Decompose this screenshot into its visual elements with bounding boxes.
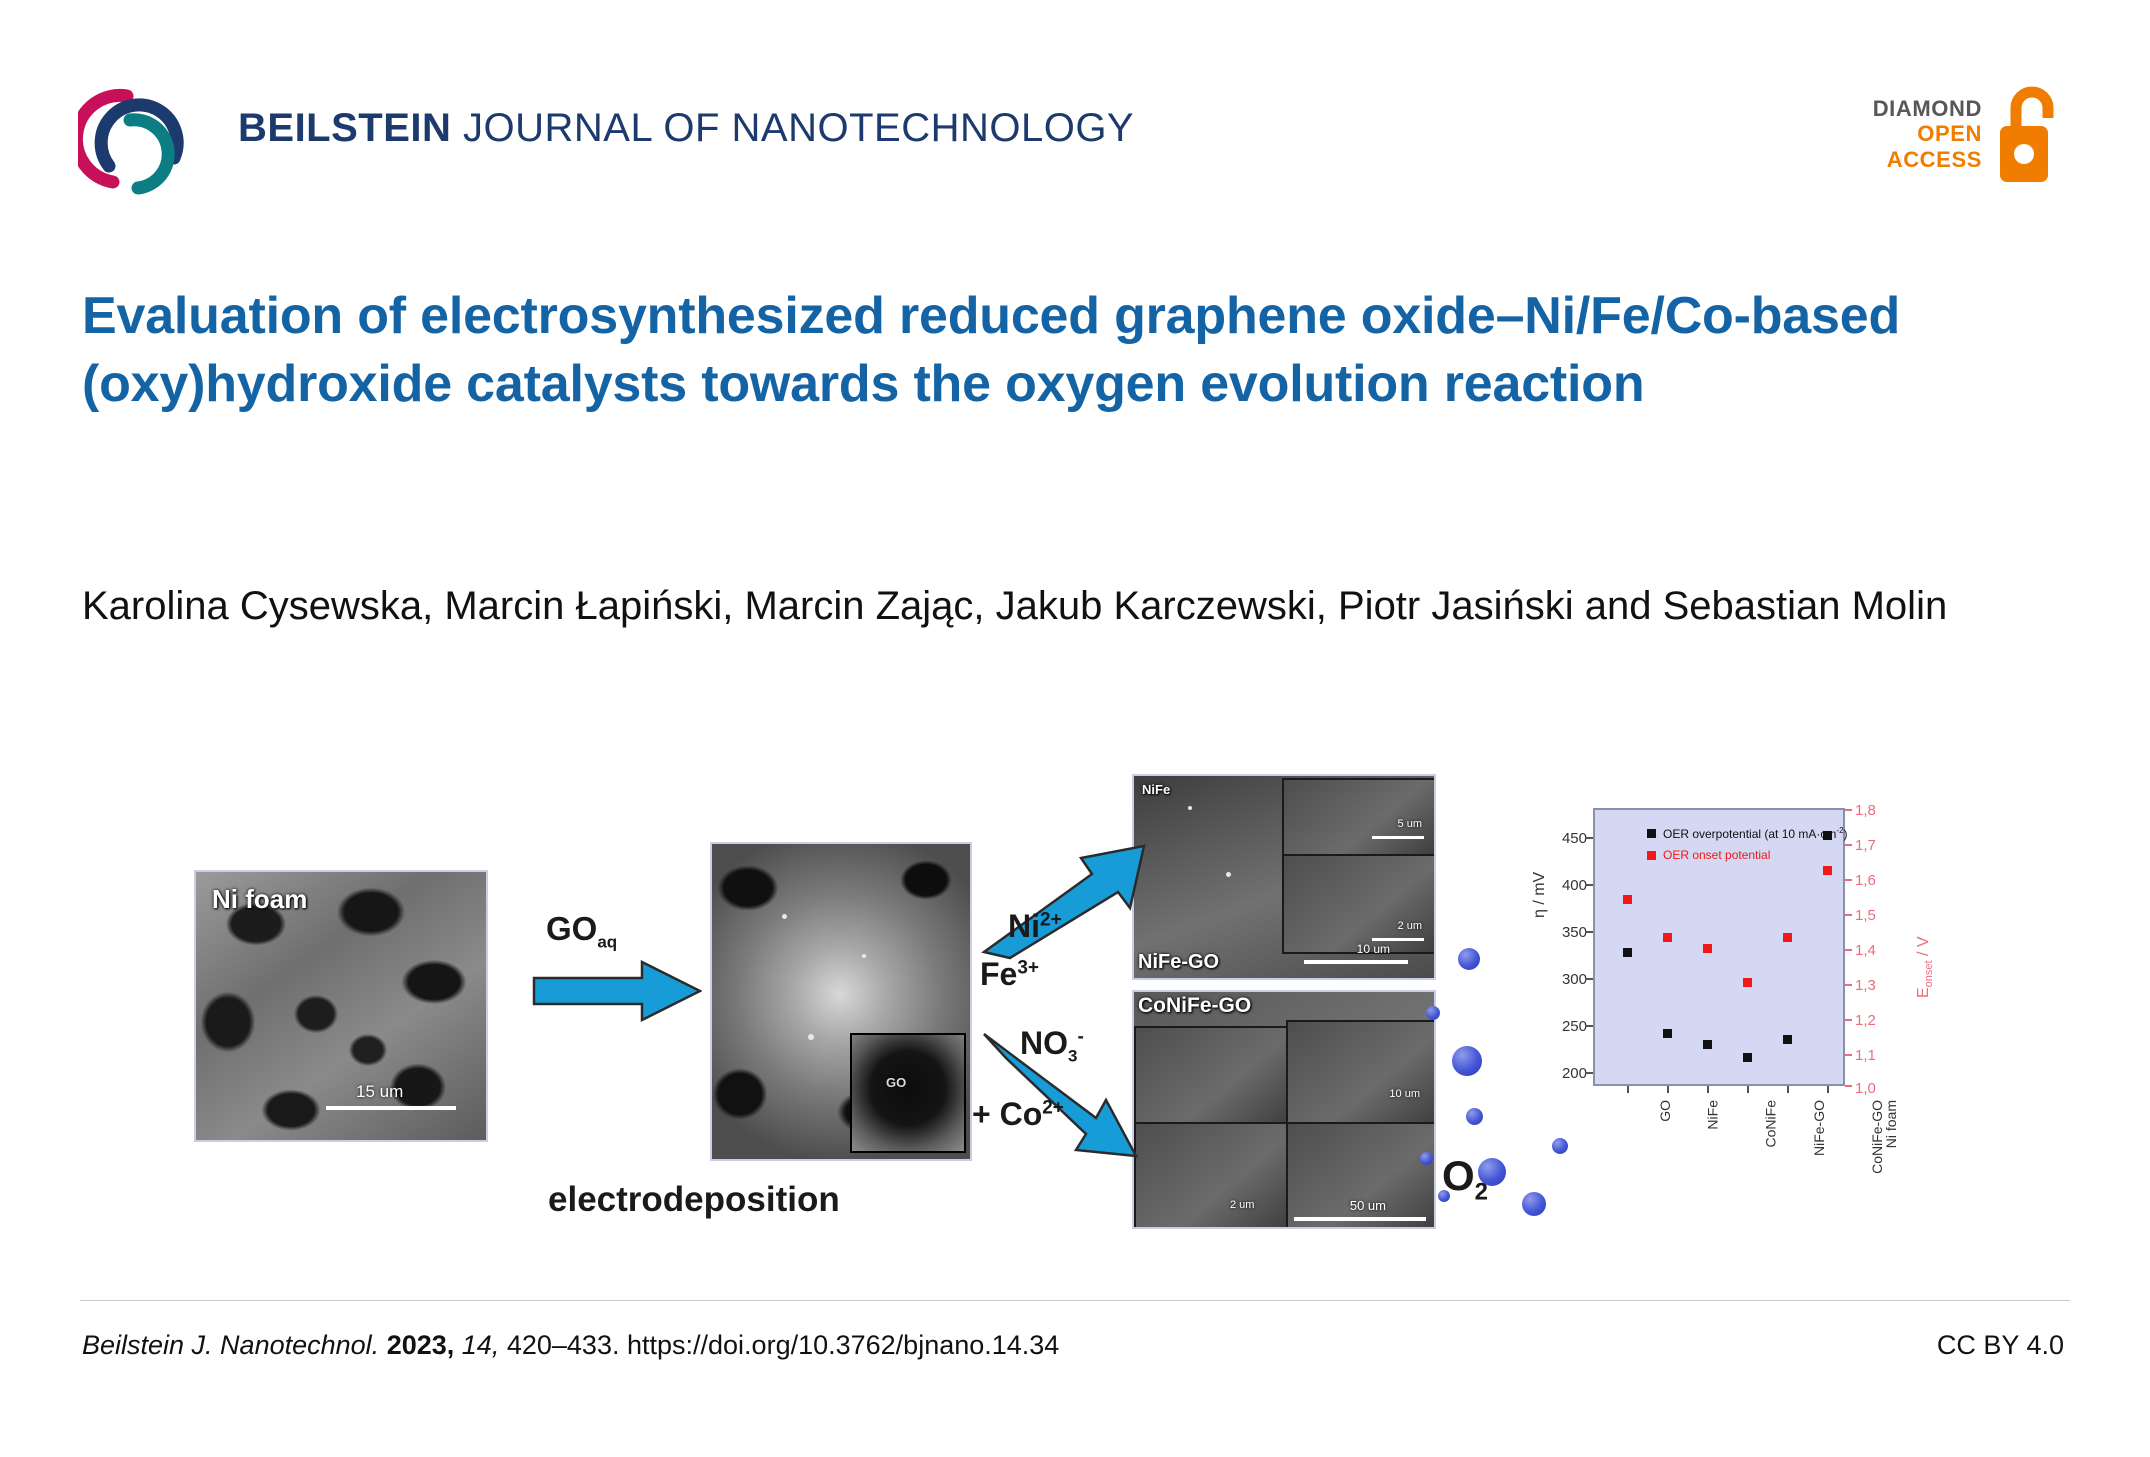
scale-bar-nife-5um [1372, 836, 1424, 839]
journal-title-bold: BEILSTEIN [238, 106, 451, 150]
arrow-electrodeposition [532, 960, 702, 1022]
y2-tickmark [1845, 1019, 1852, 1021]
license-label: CC BY 4.0 [1937, 1330, 2064, 1361]
y2-tick-1.7: 1,7 [1855, 837, 1895, 854]
x-tickmark [1747, 1086, 1749, 1093]
y2-tick-1.6: 1,6 [1855, 872, 1895, 889]
sem-inset-label-go: GO [886, 1075, 906, 1090]
sem-speck [1188, 806, 1192, 810]
x-tick-conife: CoNiFe [1762, 1100, 1778, 1147]
oxygen-bubble [1466, 1108, 1483, 1125]
citation-line: Beilstein J. Nanotechnol. 2023, 14, 420–… [82, 1330, 1059, 1361]
y-tickmark [1585, 931, 1593, 933]
scale-text-ni-foam: 15 um [356, 1082, 403, 1102]
oxygen-bubble [1522, 1192, 1546, 1216]
co-charge: 2+ [1042, 1097, 1064, 1118]
scale-text-conife-10um: 10 um [1389, 1088, 1420, 1100]
oa-open-label: OPEN [1873, 121, 1982, 147]
sem-inset-go: GO [850, 1033, 966, 1153]
y-tickmark [1585, 1025, 1593, 1027]
oer-performance-chart: OER overpotential (at 10 mA·cm-2) OER on… [1515, 788, 1935, 1208]
y2-tickmark [1845, 1054, 1852, 1056]
x-tick-nife-go: NiFe-GO [1811, 1100, 1827, 1156]
sem-image-ni-foam: Ni foam 15 um [194, 870, 488, 1142]
diamond-open-access-badge: DIAMOND OPEN ACCESS [1873, 76, 2062, 192]
data-point-overpotential-nife [1663, 1029, 1672, 1038]
no3-text: NO [1020, 1025, 1068, 1061]
citation-journal: Beilstein J. Nanotechnol. [82, 1330, 379, 1360]
page-header: BEILSTEIN JOURNAL OF NANOTECHNOLOGY DIAM… [0, 0, 2150, 210]
y2-tickmark [1845, 949, 1852, 951]
sem-inset-conife-bl [1134, 1122, 1290, 1229]
sem-speck [808, 1034, 814, 1040]
sem-speck [862, 954, 866, 958]
data-point-onset-nife-go [1743, 978, 1752, 987]
ni-text: Ni [1008, 908, 1040, 944]
scale-text-conife-2um: 2 um [1230, 1199, 1254, 1211]
data-point-overpotential-conife [1703, 1040, 1712, 1049]
arrow-to-nife-go [980, 840, 1148, 960]
legend-swatch-black [1647, 829, 1656, 838]
y2-tickmark [1845, 914, 1852, 916]
y2-tick-1.3: 1,3 [1855, 977, 1895, 994]
graphical-abstract: Ni foam 15 um GOaq GO electrodeposition … [180, 760, 1980, 1260]
no3-subscript: 3 [1068, 1046, 1077, 1065]
footer-divider [80, 1300, 2070, 1301]
label-ion-nickel: Ni2+ [1008, 908, 1062, 945]
y-tick-350: 350 [1539, 924, 1587, 941]
citation-pages: 420–433. [507, 1330, 620, 1360]
x-tick-go: GO [1657, 1100, 1673, 1122]
oxygen-bubble [1426, 1006, 1440, 1020]
label-ion-cobalt: + Co2+ [972, 1096, 1064, 1133]
go-subscript: aq [597, 933, 617, 952]
y2-tickmark [1845, 1085, 1852, 1087]
y2-tickmark [1845, 844, 1852, 846]
y2-tick-1.4: 1,4 [1855, 942, 1895, 959]
scale-bar-conife-50um [1294, 1217, 1426, 1221]
y-axis-title: η / mV [1531, 872, 1549, 918]
x-tick-ni-foam: Ni foam [1883, 1100, 1899, 1148]
fe-text: Fe [980, 956, 1017, 992]
journal-title-light: JOURNAL OF NANOTECHNOLOGY [451, 106, 1134, 150]
x-tickmark [1827, 1086, 1829, 1093]
oxygen-bubble [1458, 948, 1480, 970]
scale-text-nife-5um: 5 um [1398, 818, 1422, 830]
x-tickmark [1627, 1086, 1629, 1093]
label-oxygen: O2 [1442, 1152, 1488, 1206]
y2-tick-1.0: 1,0 [1855, 1080, 1895, 1097]
sem-label-conife-go: CoNiFe-GO [1138, 994, 1251, 1018]
o2-text: O [1442, 1152, 1475, 1199]
co-text: + Co [972, 1096, 1042, 1132]
legend-label-overpotential: OER overpotential (at 10 mA·cm-2) [1663, 826, 1848, 841]
oxygen-bubble [1452, 1046, 1482, 1076]
y-tick-200: 200 [1539, 1065, 1587, 1082]
y2-tick-1.2: 1,2 [1855, 1012, 1895, 1029]
sem-image-conife-go: CoNiFe-GO 10 um 2 um 50 um [1132, 990, 1436, 1229]
y2-tick-1.1: 1,1 [1855, 1047, 1895, 1064]
legend-item-onset: OER onset potential [1647, 848, 1770, 862]
sem-corner-label-nife: NiFe [1142, 782, 1170, 797]
oa-diamond-label: DIAMOND [1873, 96, 1982, 122]
y2-tick-1.8: 1,8 [1855, 802, 1895, 819]
sem-speck [782, 914, 787, 919]
legend-item-overpotential: OER overpotential (at 10 mA·cm-2) [1647, 826, 1848, 841]
label-go-aqueous: GOaq [546, 910, 617, 953]
data-point-overpotential-nife-go [1743, 1053, 1752, 1062]
beilstein-circles-logo [78, 78, 203, 203]
legend-swatch-red [1647, 851, 1656, 860]
journal-title: BEILSTEIN JOURNAL OF NANOTECHNOLOGY [238, 106, 1134, 151]
y2-tickmark [1845, 879, 1852, 881]
sem-inset-nife-top [1282, 778, 1436, 856]
data-point-onset-conife-go [1783, 933, 1792, 942]
citation-year: 2023, [387, 1330, 455, 1360]
go-text: GO [546, 910, 597, 947]
y-tick-450: 450 [1539, 830, 1587, 847]
fe-charge: 3+ [1017, 957, 1039, 978]
scale-bar-nife-2um [1372, 938, 1424, 941]
scale-text-conife-50um: 50 um [1350, 1198, 1386, 1213]
sem-label-ni-foam: Ni foam [212, 884, 307, 915]
x-tickmark [1667, 1086, 1669, 1093]
label-ion-nitrate: NO3- [1020, 1025, 1084, 1066]
y-tick-250: 250 [1539, 1018, 1587, 1035]
y-tickmark [1585, 884, 1593, 886]
scale-bar-ni-foam [326, 1106, 456, 1110]
x-tickmark [1787, 1086, 1789, 1093]
open-access-text: DIAMOND OPEN ACCESS [1873, 96, 1982, 173]
sem-speck [1226, 872, 1231, 877]
data-point-onset-go [1623, 895, 1632, 904]
sem-image-nife-go: NiFe 5 um 2 um NiFe-GO 10 um [1132, 774, 1436, 980]
x-tickmark [1707, 1086, 1709, 1093]
sem-label-nife-go: NiFe-GO [1138, 951, 1219, 974]
ni-charge: 2+ [1040, 909, 1062, 930]
y2-tick-1.5: 1,5 [1855, 907, 1895, 924]
o2-subscript: 2 [1475, 1178, 1488, 1205]
y2-axis-title: Eonset / V [1915, 936, 1935, 998]
y-tickmark [1585, 1072, 1593, 1074]
sem-image-go-coated: GO [710, 842, 972, 1161]
citation-doi[interactable]: https://doi.org/10.3762/bjnano.14.34 [627, 1330, 1059, 1360]
scale-text-nife-10um: 10 um [1357, 942, 1390, 956]
scale-bar-nife-10um [1304, 960, 1408, 964]
data-point-onset-nife [1663, 933, 1672, 942]
data-point-onset-conife [1703, 944, 1712, 953]
data-point-onset-ni-foam [1823, 866, 1832, 875]
label-electrodeposition: electrodeposition [548, 1180, 840, 1220]
open-lock-icon [1996, 82, 2062, 186]
x-tick-nife: NiFe [1705, 1100, 1721, 1130]
oa-access-label: ACCESS [1873, 147, 1982, 173]
data-point-overpotential-go [1623, 948, 1632, 957]
legend-label-onset: OER onset potential [1663, 848, 1770, 862]
oxygen-bubble [1420, 1152, 1433, 1165]
y2-tickmark [1845, 809, 1852, 811]
y2-tickmark [1845, 984, 1852, 986]
y-tick-300: 300 [1539, 971, 1587, 988]
y-tickmark [1585, 837, 1593, 839]
sem-inset-conife-tl [1134, 1026, 1290, 1126]
no3-charge: - [1077, 1026, 1083, 1047]
label-ion-iron: Fe3+ [980, 956, 1039, 993]
sem-inset-conife-tr [1286, 1020, 1436, 1126]
citation-volume: 14, [462, 1330, 500, 1360]
y-tickmark [1585, 978, 1593, 980]
data-point-overpotential-conife-go [1783, 1035, 1792, 1044]
author-list: Karolina Cysewska, Marcin Łapiński, Marc… [82, 578, 2002, 635]
oxygen-bubble [1552, 1138, 1568, 1154]
page-title: Evaluation of electrosynthesized reduced… [82, 282, 2042, 418]
scale-text-nife-2um: 2 um [1398, 920, 1422, 932]
